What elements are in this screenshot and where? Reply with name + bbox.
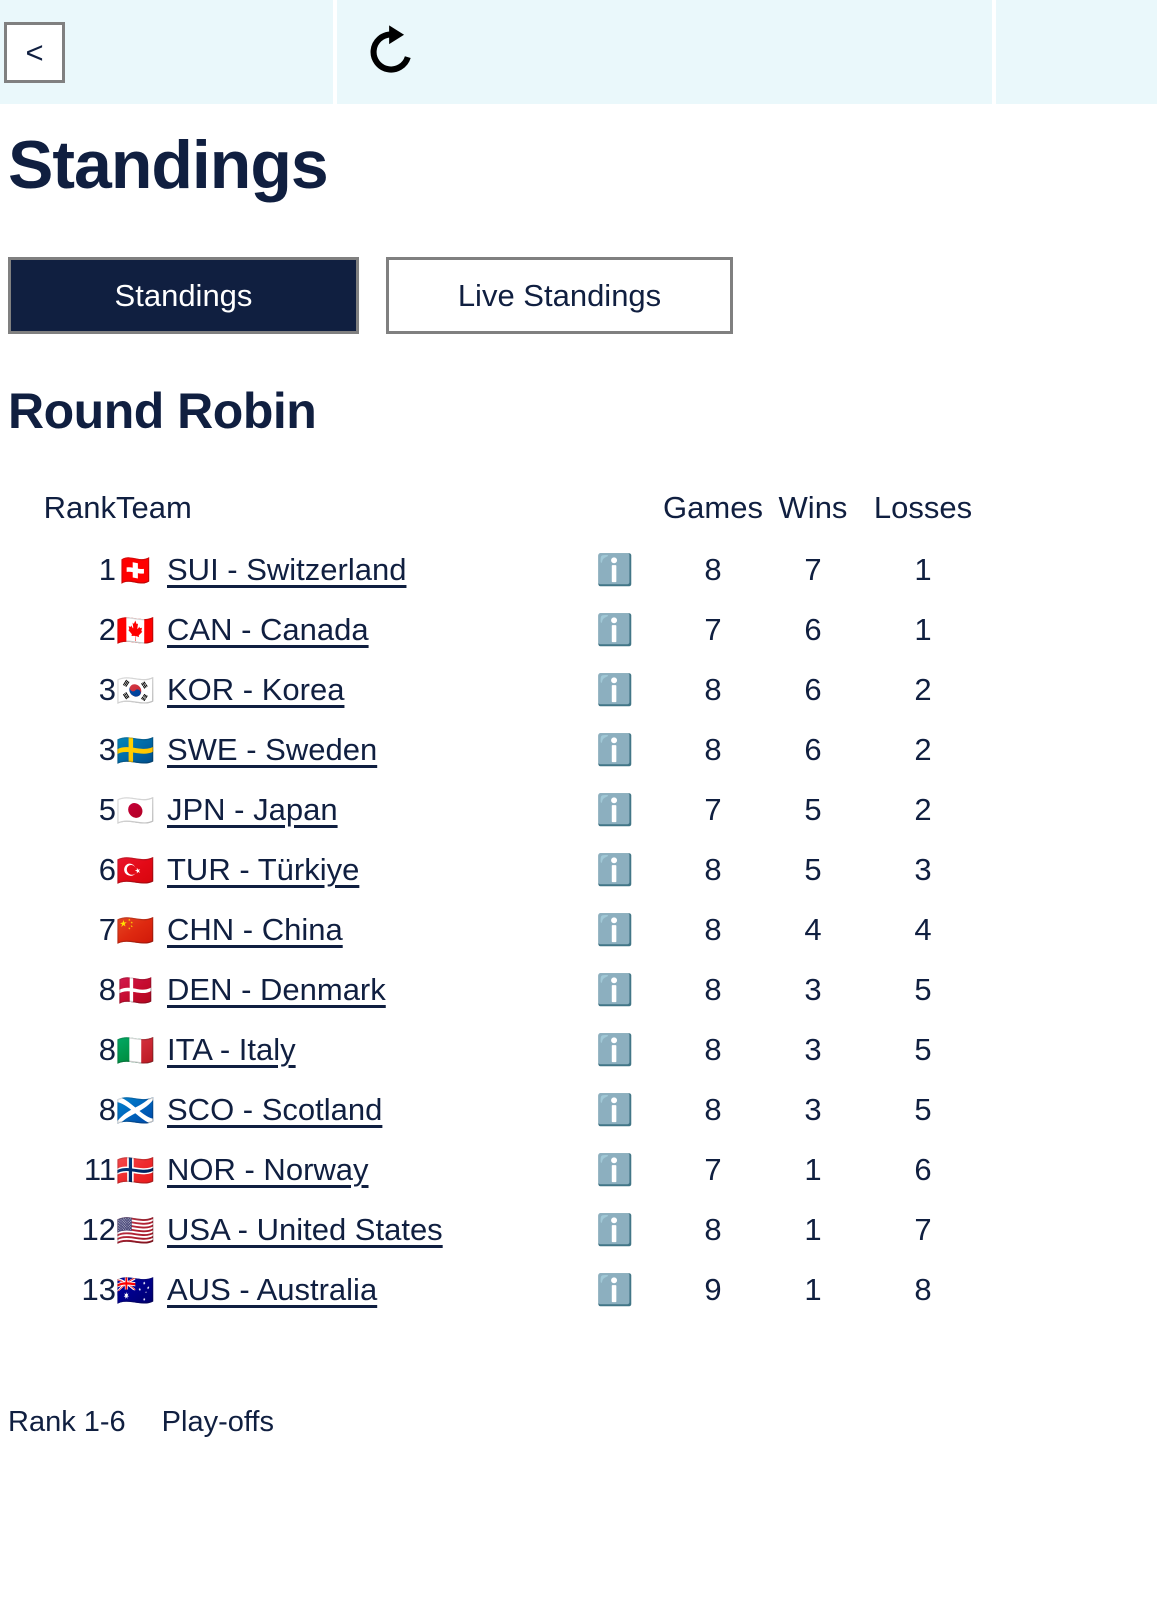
table-row: 3🇸🇪SWE - Swedenℹ️862 [8, 720, 983, 780]
info-icon[interactable]: ℹ️ [596, 1156, 633, 1186]
cell-games: 8 [663, 660, 763, 720]
cell-team: 🇹🇷TUR - Türkiye [116, 840, 567, 900]
cell-wins: 3 [763, 960, 863, 1020]
cell-info: ℹ️ [567, 1020, 663, 1080]
cell-team: 🇰🇷KOR - Korea [116, 660, 567, 720]
flag-icon: 🇰🇷 [116, 675, 154, 706]
cell-info: ℹ️ [567, 540, 663, 600]
column-header-wins: Wins [763, 490, 863, 540]
team-link[interactable]: USA - United States [167, 1212, 443, 1248]
cell-rank: 6 [8, 840, 116, 900]
flag-icon: 🇸🇪 [116, 735, 154, 766]
cell-games: 8 [663, 840, 763, 900]
table-row: 13🇦🇺AUS - Australiaℹ️918 [8, 1260, 983, 1320]
cell-wins: 4 [763, 900, 863, 960]
chevron-left-icon: < [25, 37, 43, 68]
cell-wins: 1 [763, 1260, 863, 1320]
flag-icon: 🇨🇦 [116, 615, 154, 646]
cell-losses: 6 [863, 1140, 983, 1200]
cell-rank: 3 [8, 720, 116, 780]
table-row: 6🇹🇷TUR - Türkiyeℹ️853 [8, 840, 983, 900]
cell-wins: 6 [763, 660, 863, 720]
flag-icon: 🇩🇰 [116, 975, 154, 1006]
cell-rank: 2 [8, 600, 116, 660]
flag-icon: 🇺🇸 [116, 1215, 154, 1246]
info-icon[interactable]: ℹ️ [596, 916, 633, 946]
column-header-games: Games [663, 490, 763, 540]
cell-team: 🇳🇴NOR - Norway [116, 1140, 567, 1200]
table-row: 11🇳🇴NOR - Norwayℹ️716 [8, 1140, 983, 1200]
team-link[interactable]: KOR - Korea [167, 672, 344, 708]
cell-rank: 12 [8, 1200, 116, 1260]
column-header-losses: Losses [863, 490, 983, 540]
back-button[interactable]: < [4, 22, 65, 83]
team-link[interactable]: JPN - Japan [167, 792, 338, 828]
table-row: 2🇨🇦CAN - Canadaℹ️761 [8, 600, 983, 660]
flag-icon: 🇯🇵 [116, 795, 154, 826]
cell-team: 🏴󠁧󠁢󠁳󠁣󠁴󠁿SCO - Scotland [116, 1080, 567, 1140]
info-icon[interactable]: ℹ️ [596, 736, 633, 766]
cell-rank: 3 [8, 660, 116, 720]
cell-info: ℹ️ [567, 900, 663, 960]
flag-icon: 🇦🇺 [116, 1275, 154, 1306]
cell-rank: 8 [8, 1020, 116, 1080]
table-row: 1🇨🇭SUI - Switzerlandℹ️871 [8, 540, 983, 600]
cell-info: ℹ️ [567, 1080, 663, 1140]
cell-wins: 1 [763, 1200, 863, 1260]
cell-rank: 8 [8, 960, 116, 1020]
cell-team: 🇨🇭SUI - Switzerland [116, 540, 567, 600]
legend-qualification: Play-offs [162, 1406, 274, 1439]
team-link[interactable]: CAN - Canada [167, 612, 369, 648]
flag-icon: 🇹🇷 [116, 855, 154, 886]
column-header-rank: Rank [8, 490, 116, 540]
cell-rank: 5 [8, 780, 116, 840]
team-link[interactable]: ITA - Italy [167, 1032, 296, 1068]
legend: Rank 1-6 Play-offs [8, 1406, 1149, 1439]
cell-info: ℹ️ [567, 780, 663, 840]
info-icon[interactable]: ℹ️ [596, 796, 633, 826]
team-link[interactable]: DEN - Denmark [167, 972, 386, 1008]
table-row: 5🇯🇵JPN - Japanℹ️752 [8, 780, 983, 840]
cell-wins: 6 [763, 720, 863, 780]
toolbar-back-cell: < [0, 0, 333, 104]
table-row: 3🇰🇷KOR - Koreaℹ️862 [8, 660, 983, 720]
cell-games: 9 [663, 1260, 763, 1320]
table-row: 8🏴󠁧󠁢󠁳󠁣󠁴󠁿SCO - Scotlandℹ️835 [8, 1080, 983, 1140]
cell-losses: 1 [863, 600, 983, 660]
cell-team: 🇸🇪SWE - Sweden [116, 720, 567, 780]
reload-button[interactable] [355, 16, 427, 88]
tab-standings[interactable]: Standings [8, 257, 359, 334]
cell-rank: 7 [8, 900, 116, 960]
info-icon[interactable]: ℹ️ [596, 1276, 633, 1306]
toolbar-blank-cell [996, 0, 1157, 104]
cell-info: ℹ️ [567, 1140, 663, 1200]
team-link[interactable]: SWE - Sweden [167, 732, 377, 768]
cell-info: ℹ️ [567, 660, 663, 720]
cell-losses: 5 [863, 960, 983, 1020]
cell-games: 8 [663, 960, 763, 1020]
cell-losses: 7 [863, 1200, 983, 1260]
cell-wins: 7 [763, 540, 863, 600]
cell-team: 🇮🇹ITA - Italy [116, 1020, 567, 1080]
column-header-team: Team [116, 490, 567, 540]
table-row: 12🇺🇸USA - United Statesℹ️817 [8, 1200, 983, 1260]
standings-table-body: 1🇨🇭SUI - Switzerlandℹ️8712🇨🇦CAN - Canada… [8, 540, 983, 1320]
info-icon[interactable]: ℹ️ [596, 556, 633, 586]
cell-losses: 2 [863, 780, 983, 840]
info-icon[interactable]: ℹ️ [596, 1096, 633, 1126]
cell-losses: 4 [863, 900, 983, 960]
cell-team: 🇨🇦CAN - Canada [116, 600, 567, 660]
team-link[interactable]: AUS - Australia [167, 1272, 377, 1308]
cell-games: 8 [663, 1020, 763, 1080]
cell-rank: 1 [8, 540, 116, 600]
cell-wins: 1 [763, 1140, 863, 1200]
cell-info: ℹ️ [567, 840, 663, 900]
table-row: 8🇮🇹ITA - Italyℹ️835 [8, 1020, 983, 1080]
cell-wins: 5 [763, 840, 863, 900]
cell-games: 7 [663, 600, 763, 660]
team-link[interactable]: TUR - Türkiye [167, 852, 359, 888]
cell-losses: 5 [863, 1020, 983, 1080]
table-row: 7🇨🇳CHN - Chinaℹ️844 [8, 900, 983, 960]
flag-icon: 🏴󠁧󠁢󠁳󠁣󠁴󠁿 [116, 1095, 154, 1126]
standings-table: Rank Team Games Wins Losses 1🇨🇭SUI - Swi… [8, 490, 983, 1320]
flag-icon: 🇳🇴 [116, 1155, 154, 1186]
info-icon[interactable]: ℹ️ [596, 616, 633, 646]
cell-rank: 11 [8, 1140, 116, 1200]
column-header-info [567, 490, 663, 540]
cell-losses: 3 [863, 840, 983, 900]
team-link[interactable]: NOR - Norway [167, 1152, 369, 1188]
flag-icon: 🇨🇳 [116, 915, 154, 946]
page-title: Standings [8, 126, 1149, 204]
tab-live-standings[interactable]: Live Standings [386, 257, 733, 334]
cell-games: 8 [663, 720, 763, 780]
cell-losses: 2 [863, 660, 983, 720]
cell-wins: 5 [763, 780, 863, 840]
section-title: Round Robin [8, 382, 1149, 440]
cell-info: ℹ️ [567, 1200, 663, 1260]
cell-wins: 3 [763, 1080, 863, 1140]
cell-losses: 1 [863, 540, 983, 600]
cell-losses: 5 [863, 1080, 983, 1140]
cell-team: 🇯🇵JPN - Japan [116, 780, 567, 840]
cell-games: 8 [663, 1200, 763, 1260]
team-link[interactable]: CHN - China [167, 912, 343, 948]
cell-wins: 3 [763, 1020, 863, 1080]
page-content: Standings Standings Live Standings Round… [0, 126, 1157, 1439]
cell-team: 🇦🇺AUS - Australia [116, 1260, 567, 1320]
info-icon[interactable]: ℹ️ [596, 676, 633, 706]
cell-wins: 6 [763, 600, 863, 660]
cell-team: 🇩🇰DEN - Denmark [116, 960, 567, 1020]
info-icon[interactable]: ℹ️ [596, 1216, 633, 1246]
team-link[interactable]: SCO - Scotland [167, 1092, 382, 1128]
standings-tabs: Standings Live Standings [8, 257, 1149, 334]
info-icon[interactable]: ℹ️ [596, 856, 633, 886]
cell-games: 8 [663, 900, 763, 960]
team-link[interactable]: SUI - Switzerland [167, 552, 406, 588]
cell-games: 8 [663, 1080, 763, 1140]
table-row: 8🇩🇰DEN - Denmarkℹ️835 [8, 960, 983, 1020]
cell-losses: 2 [863, 720, 983, 780]
cell-team: 🇺🇸USA - United States [116, 1200, 567, 1260]
cell-games: 7 [663, 780, 763, 840]
cell-losses: 8 [863, 1260, 983, 1320]
cell-rank: 8 [8, 1080, 116, 1140]
browser-toolbar: < [0, 0, 1157, 104]
cell-games: 8 [663, 540, 763, 600]
info-icon[interactable]: ℹ️ [596, 976, 633, 1006]
flag-icon: 🇨🇭 [116, 555, 154, 586]
cell-rank: 13 [8, 1260, 116, 1320]
toolbar-reload-cell [337, 0, 992, 104]
cell-info: ℹ️ [567, 720, 663, 780]
reload-icon [363, 24, 419, 80]
legend-rank-range: Rank 1-6 [8, 1406, 126, 1439]
cell-info: ℹ️ [567, 1260, 663, 1320]
cell-info: ℹ️ [567, 600, 663, 660]
cell-team: 🇨🇳CHN - China [116, 900, 567, 960]
cell-games: 7 [663, 1140, 763, 1200]
table-header-row: Rank Team Games Wins Losses [8, 490, 983, 540]
flag-icon: 🇮🇹 [116, 1035, 154, 1066]
cell-info: ℹ️ [567, 960, 663, 1020]
info-icon[interactable]: ℹ️ [596, 1036, 633, 1066]
